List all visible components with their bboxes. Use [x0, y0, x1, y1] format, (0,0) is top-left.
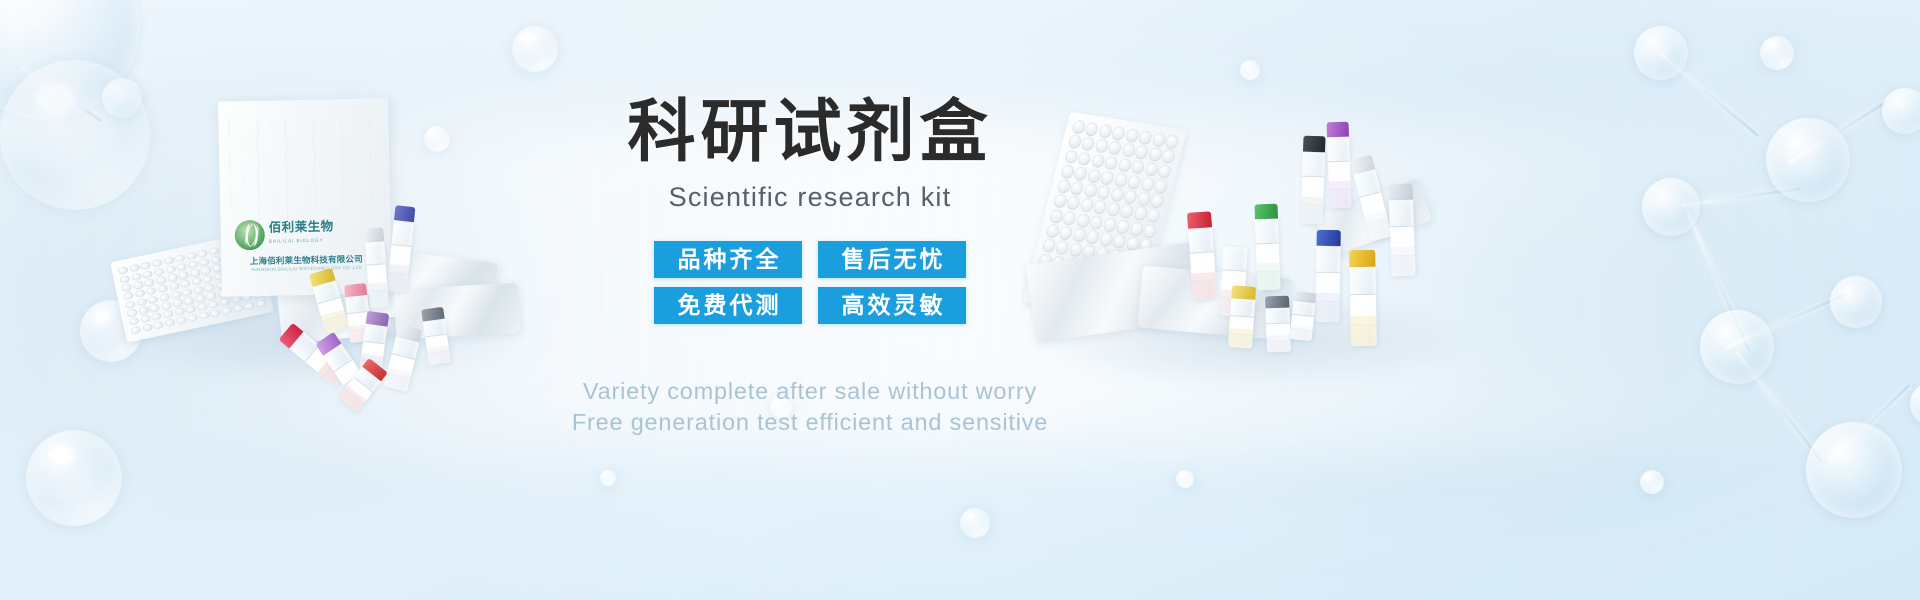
dna-helix-icon	[234, 220, 265, 251]
feature-badge-variety[interactable]: 品种齐全	[654, 241, 802, 278]
water-droplet	[26, 430, 122, 526]
kit-brand-logo: 佰利莱生物 BAILILAI BIOLOGY	[234, 218, 334, 250]
kit-brand-name: 佰利莱生物 BAILILAI BIOLOGY	[269, 220, 335, 247]
reagent-vial	[1255, 204, 1281, 291]
water-droplet	[1640, 470, 1664, 494]
banner-root: 佰利莱生物 BAILILAI BIOLOGY 上海佰利莱生物科技有限公司 SHA…	[0, 0, 1920, 600]
water-droplet	[1240, 60, 1260, 80]
hero-text-block: 科研试剂盒 Scientific research kit 品种齐全 售后无忧 …	[500, 96, 1120, 516]
tagline-line-2: Free generation test efficient and sensi…	[500, 407, 1120, 438]
molecule-node	[1700, 310, 1774, 384]
feature-badge-aftersale[interactable]: 售后无忧	[818, 241, 966, 278]
molecule-structure-right	[1530, 0, 1920, 600]
reagent-vial	[384, 324, 423, 392]
product-cluster-left: 佰利莱生物 BAILILAI BIOLOGY 上海佰利莱生物科技有限公司 SHA…	[95, 78, 565, 378]
water-droplet	[1760, 36, 1794, 70]
molecule-node	[1642, 178, 1700, 236]
tagline-line-1: Variety complete after sale without worr…	[500, 376, 1120, 407]
molecule-node	[1806, 422, 1902, 518]
reagent-vial	[1315, 230, 1341, 322]
feature-badge-freetest[interactable]: 免费代测	[654, 287, 802, 324]
page-subtitle: Scientific research kit	[500, 182, 1120, 213]
page-title: 科研试剂盒	[500, 96, 1120, 168]
molecule-node	[1634, 26, 1688, 80]
molecule-node	[1882, 88, 1920, 134]
water-droplet	[1176, 470, 1194, 488]
molecule-node	[1766, 118, 1850, 202]
reagent-vial	[1265, 296, 1291, 353]
reagent-vial	[1290, 291, 1317, 341]
feature-badge-sensitive[interactable]: 高效灵敏	[818, 287, 966, 324]
reagent-vial	[1388, 184, 1415, 277]
reagent-vial	[1228, 285, 1256, 349]
water-droplet	[512, 26, 558, 72]
reagent-vial	[1349, 250, 1377, 346]
reagent-vial	[1187, 211, 1217, 300]
molecule-node	[1830, 276, 1882, 328]
tagline-group: Variety complete after sale without worr…	[500, 376, 1120, 438]
molecule-node	[1910, 382, 1920, 426]
reagent-vial	[1300, 136, 1325, 225]
reagent-vial	[1327, 122, 1352, 209]
feature-badge-group: 品种齐全 售后无忧 免费代测 高效灵敏	[654, 241, 966, 324]
